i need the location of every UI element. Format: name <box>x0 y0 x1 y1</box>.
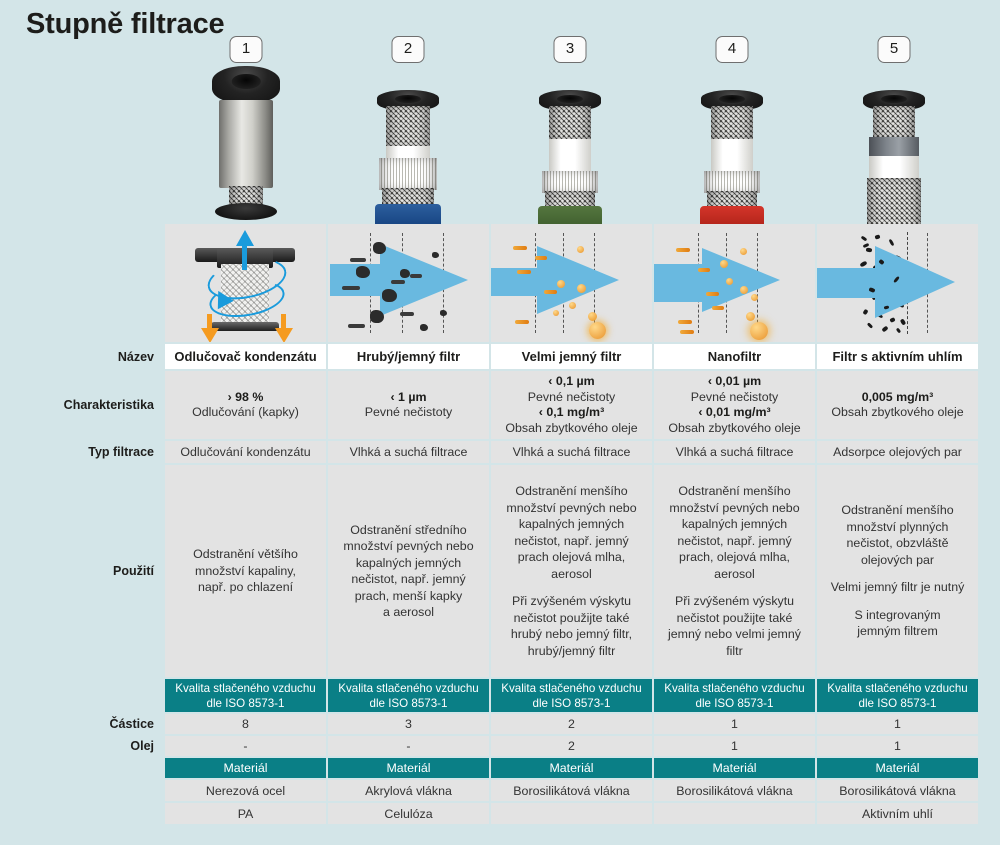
characteristic-cell-4: ‹ 0,01 µmPevné nečistoty‹ 0,01 mg/m³Obsa… <box>654 371 815 439</box>
row-label-diagram <box>0 224 165 342</box>
filter-photo-strip: 1 2 3 4 <box>165 34 978 224</box>
material-header-2: Materiál <box>328 758 489 778</box>
name-cell-3: Velmi jemný filtr <box>491 344 652 369</box>
row-label-filtration-type: Typ filtrace <box>0 441 165 463</box>
table-row-particles: Částice 8 3 2 1 1 <box>0 714 1000 734</box>
material-cell-5-2: Aktivním uhlí <box>817 803 978 824</box>
stage-badge-1: 1 <box>230 36 263 63</box>
table-row-diagrams <box>0 224 1000 342</box>
particles-cell-4: 1 <box>654 714 815 734</box>
comparison-table: Název Odlučovač kondenzátu Hrubý/jemný f… <box>0 224 1000 824</box>
table-row-material-header: Materiál Materiál Materiál Materiál Mate… <box>0 758 1000 778</box>
row-label-material <box>0 758 165 778</box>
particles-cell-5: 1 <box>817 714 978 734</box>
material-header-4: Materiál <box>654 758 815 778</box>
filter-photo-2: 2 <box>327 34 489 224</box>
material-cell-4-1: Borosilikátová vlákna <box>654 780 815 801</box>
material-cell-2-2: Celulóza <box>328 803 489 824</box>
row-label-particles: Částice <box>0 714 165 734</box>
oil-cell-2: - <box>328 736 489 756</box>
material-cell-3-1: Borosilikátová vlákna <box>491 780 652 801</box>
characteristic-cell-1: › 98 %Odlučování (kapky) <box>165 371 326 439</box>
stage-badge-4: 4 <box>716 36 749 63</box>
filter-photo-5: 5 <box>813 34 975 224</box>
table-row-oil: Olej - - 2 1 1 <box>0 736 1000 756</box>
table-row-iso-header: Kvalita stlačeného vzduchu dle ISO 8573-… <box>0 679 1000 712</box>
filter-photo-1: 1 <box>165 34 327 224</box>
name-cell-4: Nanofiltr <box>654 344 815 369</box>
oil-cell-3: 2 <box>491 736 652 756</box>
material-cell-4-2 <box>654 803 815 824</box>
iso-header-1: Kvalita stlačeného vzduchu dle ISO 8573-… <box>165 679 326 712</box>
filter-image-2 <box>368 66 448 226</box>
diagram-cell-5 <box>817 224 978 342</box>
table-row-material-2: PA Celulóza Aktivním uhlí <box>0 803 1000 824</box>
characteristic-cell-3: ‹ 0,1 µmPevné nečistoty‹ 0,1 mg/m³Obsah … <box>491 371 652 439</box>
table-row-material-1: Nerezová ocel Akrylová vlákna Borosiliká… <box>0 780 1000 801</box>
material-header-5: Materiál <box>817 758 978 778</box>
stage-badge-2: 2 <box>392 36 425 63</box>
diagram-cell-1 <box>165 224 326 342</box>
iso-header-5: Kvalita stlačeného vzduchu dle ISO 8573-… <box>817 679 978 712</box>
diagram-cell-3 <box>491 224 652 342</box>
filter-image-3 <box>530 66 610 226</box>
filtration-type-cell-5: Adsorpce olejových par <box>817 441 978 463</box>
material-cell-5-1: Borosilikátová vlákna <box>817 780 978 801</box>
table-row-name: Název Odlučovač kondenzátu Hrubý/jemný f… <box>0 344 1000 369</box>
oil-cell-4: 1 <box>654 736 815 756</box>
iso-header-3: Kvalita stlačeného vzduchu dle ISO 8573-… <box>491 679 652 712</box>
table-row-usage: Použití Odstranění většíhomnožství kapal… <box>0 465 1000 677</box>
characteristic-cell-2: ‹ 1 µmPevné nečistoty <box>328 371 489 439</box>
usage-cell-2: Odstranění středníhomnožství pevných neb… <box>328 465 489 677</box>
filter-image-1 <box>206 66 286 224</box>
filtration-type-cell-1: Odlučování kondenzátu <box>165 441 326 463</box>
table-row-filtration-type: Typ filtrace Odlučování kondenzátu Vlhká… <box>0 441 1000 463</box>
row-label-characteristic: Charakteristika <box>0 371 165 439</box>
name-cell-1: Odlučovač kondenzátu <box>165 344 326 369</box>
particles-cell-1: 8 <box>165 714 326 734</box>
usage-cell-3: Odstranění menšíhomnožství pevných nebok… <box>491 465 652 677</box>
filter-image-5 <box>854 66 934 231</box>
name-cell-2: Hrubý/jemný filtr <box>328 344 489 369</box>
material-cell-3-2 <box>491 803 652 824</box>
particles-cell-2: 3 <box>328 714 489 734</box>
name-cell-5: Filtr s aktivním uhlím <box>817 344 978 369</box>
iso-header-4: Kvalita stlačeného vzduchu dle ISO 8573-… <box>654 679 815 712</box>
filter-image-4 <box>692 66 772 226</box>
material-cell-2-1: Akrylová vlákna <box>328 780 489 801</box>
row-label-material-value-2 <box>0 803 165 824</box>
row-label-material-value-1 <box>0 780 165 801</box>
filtration-type-cell-4: Vlhká a suchá filtrace <box>654 441 815 463</box>
material-header-1: Materiál <box>165 758 326 778</box>
filtration-type-cell-2: Vlhká a suchá filtrace <box>328 441 489 463</box>
filter-photo-3: 3 <box>489 34 651 224</box>
diagram-cell-4 <box>654 224 815 342</box>
row-label-usage: Použití <box>0 465 165 677</box>
particles-cell-3: 2 <box>491 714 652 734</box>
oil-cell-1: - <box>165 736 326 756</box>
stage-badge-5: 5 <box>878 36 911 63</box>
oil-cell-5: 1 <box>817 736 978 756</box>
row-label-name: Název <box>0 344 165 369</box>
usage-cell-5: Odstranění menšíhomnožství plynnýchnečis… <box>817 465 978 677</box>
characteristic-cell-5: 0,005 mg/m³Obsah zbytkového oleje <box>817 371 978 439</box>
filter-photo-4: 4 <box>651 34 813 224</box>
diagram-cell-2 <box>328 224 489 342</box>
stage-badge-3: 3 <box>554 36 587 63</box>
iso-header-2: Kvalita stlačeného vzduchu dle ISO 8573-… <box>328 679 489 712</box>
table-row-characteristic: Charakteristika › 98 %Odlučování (kapky)… <box>0 371 1000 439</box>
row-label-iso <box>0 679 165 712</box>
row-label-oil: Olej <box>0 736 165 756</box>
usage-cell-4: Odstranění menšíhomnožství pevných nebok… <box>654 465 815 677</box>
filtration-type-cell-3: Vlhká a suchá filtrace <box>491 441 652 463</box>
usage-cell-1: Odstranění většíhomnožství kapaliny,např… <box>165 465 326 677</box>
material-cell-1-1: Nerezová ocel <box>165 780 326 801</box>
material-header-3: Materiál <box>491 758 652 778</box>
material-cell-1-2: PA <box>165 803 326 824</box>
